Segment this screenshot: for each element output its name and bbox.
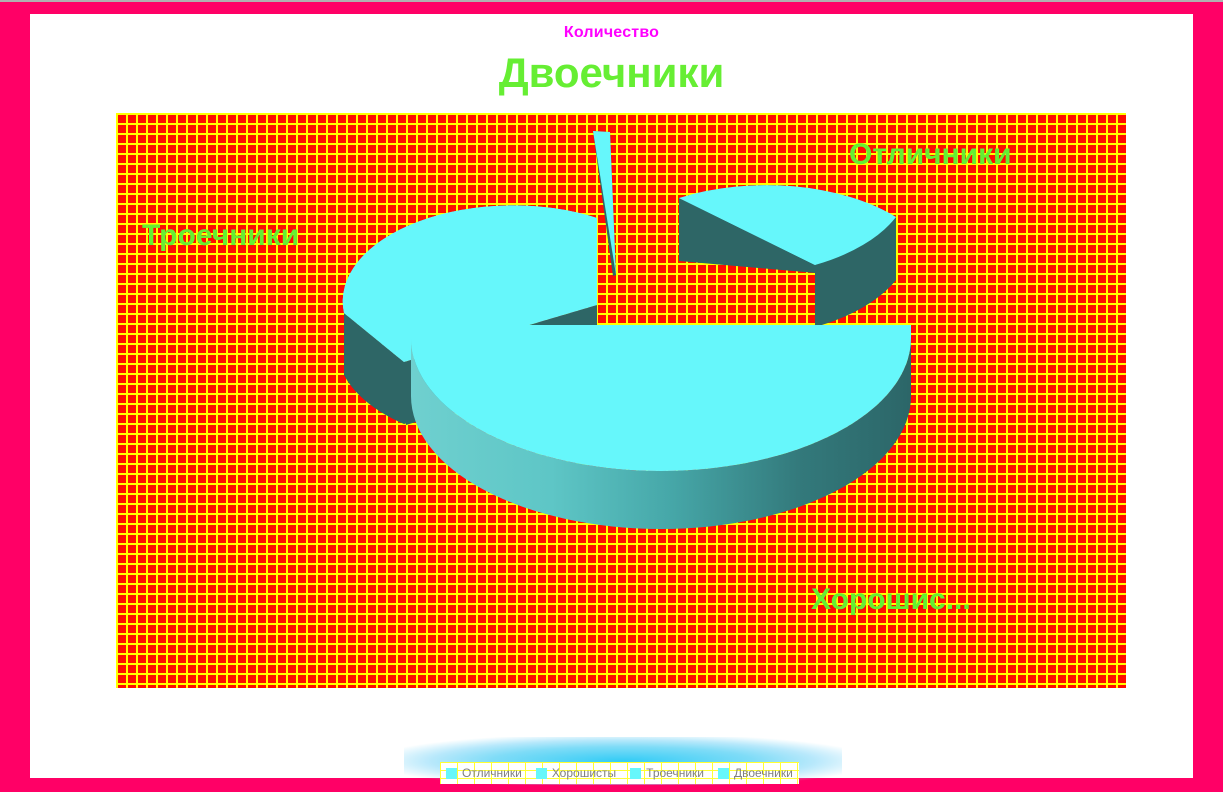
legend-item-horoshisty[interactable]: Хорошисты (536, 766, 616, 780)
window-top-rule (0, 0, 1223, 2)
legend-item-troechniki[interactable]: Троечники (630, 766, 704, 780)
pie-slice-horoshisty[interactable] (411, 325, 911, 529)
data-label-horoshisty: Хорошис... (811, 585, 971, 615)
chart-window: Количество Двоечники (0, 0, 1223, 792)
legend-label: Двоечники (734, 766, 793, 780)
data-label-troechniki: Троечники (142, 221, 299, 251)
legend-swatch-icon (446, 768, 457, 779)
legend-swatch-icon (536, 768, 547, 779)
plot-area[interactable]: Отличники Троечники Хорошис... (116, 113, 1126, 688)
legend-item-dvoechniki[interactable]: Двоечники (718, 766, 793, 780)
legend-label: Отличники (462, 766, 522, 780)
chart-canvas[interactable]: Количество Двоечники (30, 14, 1193, 778)
chart-title: Двоечники (30, 49, 1193, 97)
legend-swatch-icon (630, 768, 641, 779)
data-label-otlichniki: Отличники (849, 140, 1012, 170)
axis-title: Количество (30, 24, 1193, 42)
chart-legend[interactable]: Отличники Хорошисты Троечники Двоечники (440, 762, 799, 784)
legend-label: Троечники (646, 766, 704, 780)
pie-chart-graphic[interactable] (116, 113, 1126, 688)
legend-swatch-icon (718, 768, 729, 779)
legend-item-otlichniki[interactable]: Отличники (446, 766, 522, 780)
legend-label: Хорошисты (552, 766, 616, 780)
pie-slice-otlichniki[interactable] (679, 185, 896, 327)
